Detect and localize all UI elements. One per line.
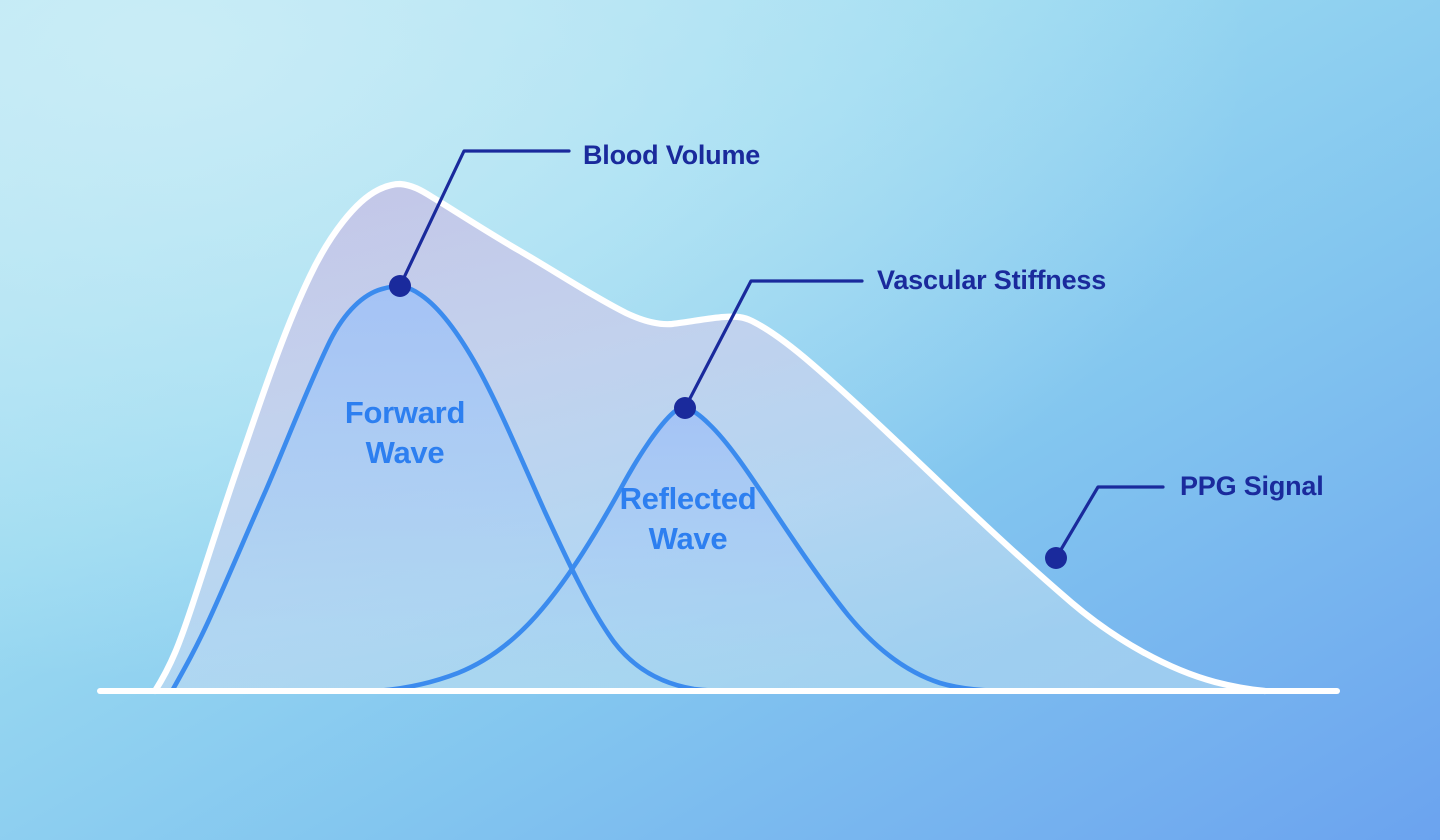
leader-line-ppg-signal (1056, 487, 1163, 558)
wave-label-reflected-wave: Reflected Wave (538, 479, 838, 558)
ppg-waveform-diagram: Blood Volume Vascular Stiffness PPG Sign… (0, 0, 1440, 840)
waveform-plot (0, 0, 1440, 840)
anchor-dot-blood-volume[interactable] (389, 275, 411, 297)
callout-label-ppg-signal: PPG Signal (1180, 473, 1324, 500)
anchor-dot-vascular-stiffness[interactable] (674, 397, 696, 419)
callout-label-vascular-stiffness: Vascular Stiffness (877, 267, 1106, 294)
wave-label-forward-wave: Forward Wave (255, 393, 555, 472)
anchor-dot-ppg-signal[interactable] (1045, 547, 1067, 569)
callout-label-blood-volume: Blood Volume (583, 142, 760, 169)
